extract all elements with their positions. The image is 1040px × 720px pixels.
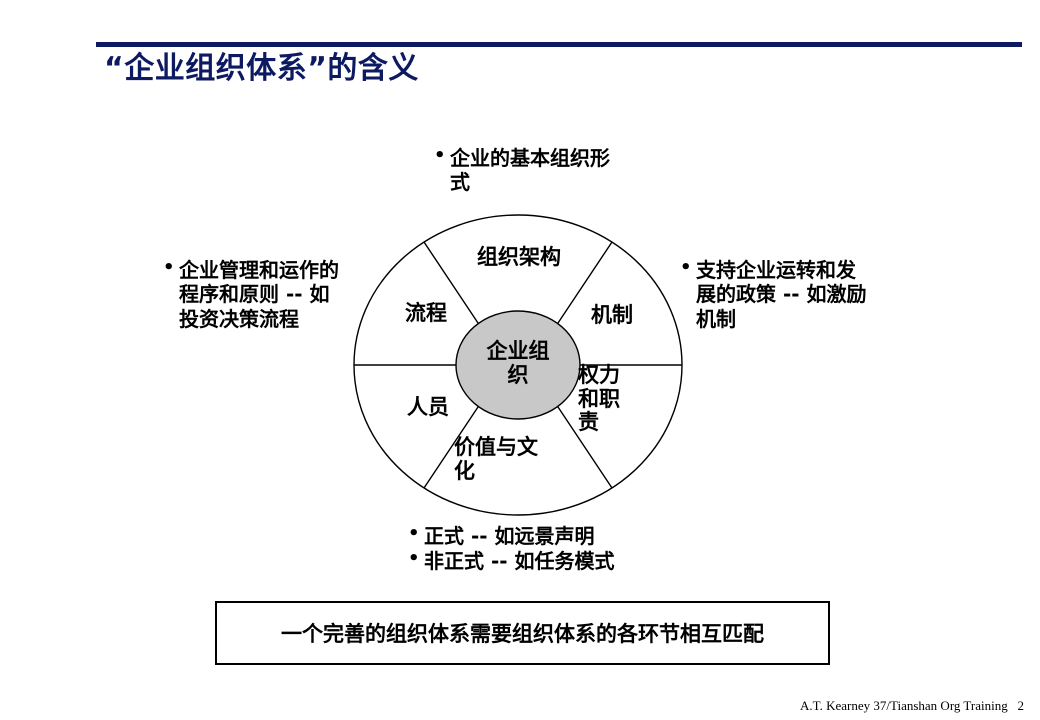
wheel-segment-mechanism: 机制 (572, 304, 652, 328)
summary-box: 一个完善的组织体系需要组织体系的各环节相互匹配 (215, 601, 830, 665)
callout-top-list: 企业的基本组织形式 (434, 146, 624, 195)
wheel-segment-authority: 权力 和职 责 (578, 364, 630, 435)
callout-bottom-list: 正式 -- 如远景声明 非正式 -- 如任务模式 (408, 524, 658, 574)
wheel-center-label: 企业组 织 (460, 340, 576, 388)
org-system-wheel-diagram: 组织架构 机制 权力 和职 责 价值与文 化 人员 流程 企业组 织 (350, 212, 686, 518)
callout-top-item: 企业的基本组织形式 (434, 146, 624, 195)
callout-right-item: 支持企业运转和发展的政策 -- 如激励机制 (680, 258, 870, 331)
wheel-segment-process: 流程 (386, 302, 466, 326)
callout-right-list: 支持企业运转和发展的政策 -- 如激励机制 (680, 258, 870, 331)
wheel-segment-values: 价值与文 化 (454, 436, 570, 483)
wheel-segment-people: 人员 (388, 396, 468, 420)
callout-left: 企业管理和运作的程序和原则 -- 如投资决策流程 (163, 258, 343, 332)
callout-bottom-item-informal: 非正式 -- 如任务模式 (408, 549, 658, 573)
page-title: “企业组织体系”的含义 (104, 52, 904, 87)
callout-bottom-item-formal: 正式 -- 如远景声明 (408, 524, 658, 548)
slide-footer: A.T. Kearney 37/Tianshan Org Training 2 (800, 698, 1024, 714)
callout-right: 支持企业运转和发展的政策 -- 如激励机制 (680, 258, 870, 332)
summary-text: 一个完善的组织体系需要组织体系的各环节相互匹配 (281, 618, 764, 648)
wheel-segment-structure: 组织架构 (454, 246, 584, 270)
callout-left-item: 企业管理和运作的程序和原则 -- 如投资决策流程 (163, 258, 343, 331)
callout-left-list: 企业管理和运作的程序和原则 -- 如投资决策流程 (163, 258, 343, 331)
callout-bottom: 正式 -- 如远景声明 非正式 -- 如任务模式 (408, 524, 658, 575)
callout-top: 企业的基本组织形式 (434, 146, 624, 196)
title-rule (96, 42, 1022, 47)
